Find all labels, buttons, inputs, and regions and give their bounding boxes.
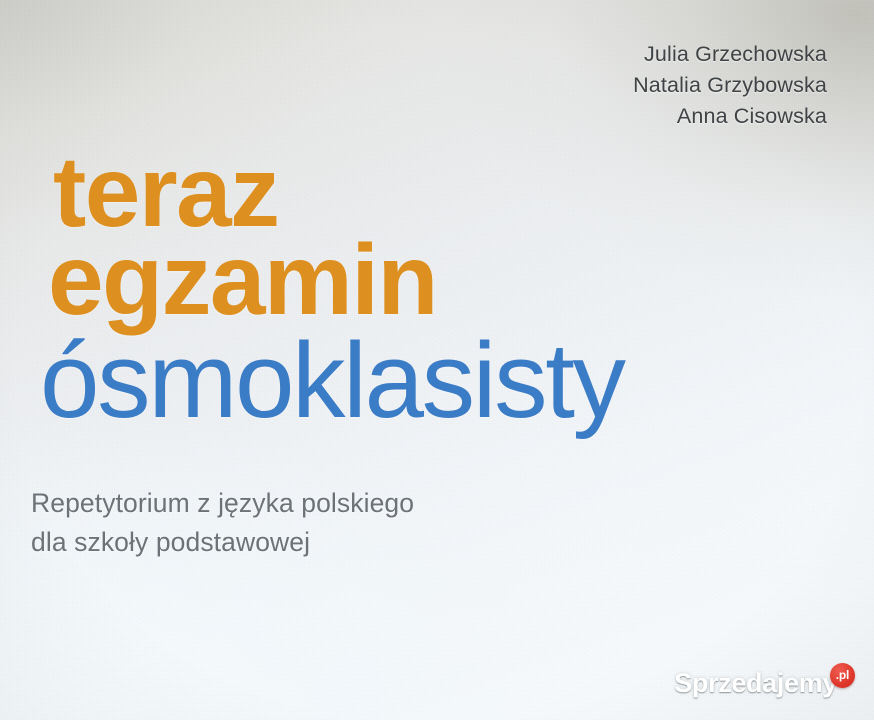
subtitle-line-1: Repetytorium z języka polskiego: [31, 484, 414, 523]
title-line-osmoklasisty: ósmoklasisty: [0, 328, 874, 432]
title-line-egzamin: egzamin: [0, 236, 874, 324]
author-name-3: Anna Cisowska: [633, 101, 827, 132]
author-name-2: Natalia Grzybowska: [633, 70, 827, 101]
watermark-text: Sprzedajemy: [674, 668, 837, 698]
author-name-1: Julia Grzechowska: [633, 39, 827, 70]
cover-title: teraz egzamin ósmoklasisty: [0, 148, 874, 432]
watermark: Sprzedajemy .pl: [674, 668, 855, 702]
subtitle-line-2: dla szkoły podstawowej: [31, 523, 414, 562]
author-list: Julia Grzechowska Natalia Grzybowska Ann…: [633, 39, 827, 132]
cover-content: Julia Grzechowska Natalia Grzybowska Ann…: [0, 0, 874, 720]
book-cover-photo: Julia Grzechowska Natalia Grzybowska Ann…: [0, 0, 874, 720]
watermark-badge-label: .pl: [830, 663, 855, 688]
watermark-pl-badge-icon: .pl: [830, 663, 855, 688]
cover-subtitle: Repetytorium z języka polskiego dla szko…: [31, 484, 414, 562]
title-line-teraz: teraz: [0, 148, 874, 236]
